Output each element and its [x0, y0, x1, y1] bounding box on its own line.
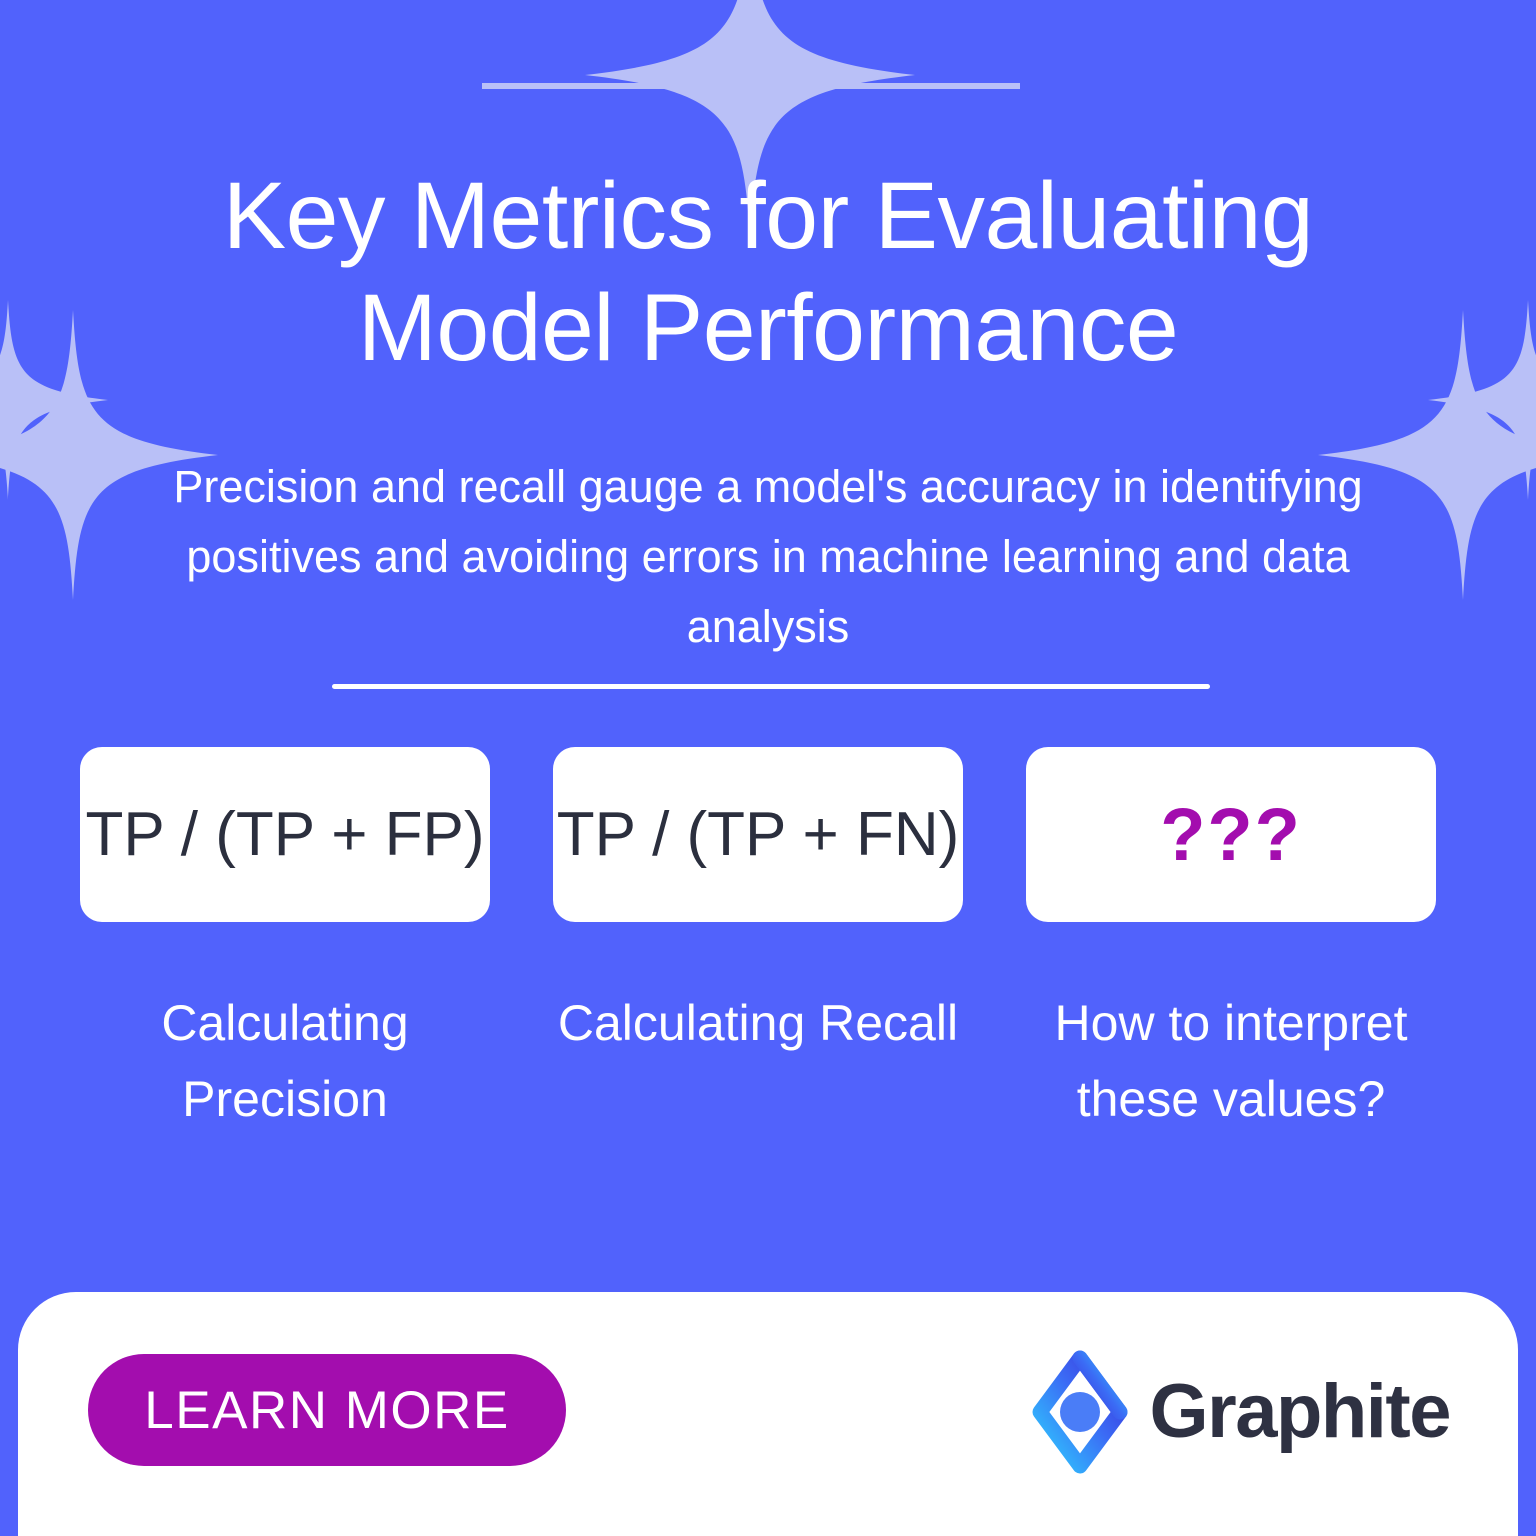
brand-logo: Graphite: [1032, 1350, 1451, 1474]
sparkle-ray-icon: [482, 83, 1020, 89]
formula-card-recall[interactable]: TP / (TP + FN): [553, 747, 963, 922]
formula-card-interpretation[interactable]: ???: [1026, 747, 1436, 922]
footer-bar: LEARN MORE: [18, 1292, 1518, 1536]
formula-card-precision[interactable]: TP / (TP + FP): [80, 747, 490, 922]
caption-precision: Calculating Precision: [80, 985, 490, 1137]
infographic-canvas: Key Metrics for Evaluating Model Perform…: [0, 0, 1536, 1536]
page-title: Key Metrics for Evaluating Model Perform…: [90, 160, 1446, 384]
caption-interpretation: How to interpret these values?: [1026, 985, 1436, 1137]
diamond-logo-icon: [1032, 1350, 1128, 1474]
horizontal-divider: [332, 684, 1210, 689]
learn-more-button[interactable]: LEARN MORE: [88, 1354, 566, 1466]
formula-card-list: TP / (TP + FP) TP / (TP + FN) ???: [80, 747, 1436, 922]
formula-text: ???: [1160, 792, 1302, 877]
caption-recall: Calculating Recall: [553, 985, 963, 1137]
page-title-block: Key Metrics for Evaluating Model Perform…: [0, 160, 1536, 384]
formula-text: TP / (TP + FN): [557, 799, 960, 870]
page-subtitle: Precision and recall gauge a model's acc…: [0, 452, 1536, 661]
caption-list: Calculating Precision Calculating Recall…: [80, 985, 1436, 1137]
formula-text: TP / (TP + FP): [85, 799, 484, 870]
brand-name: Graphite: [1150, 1374, 1451, 1450]
